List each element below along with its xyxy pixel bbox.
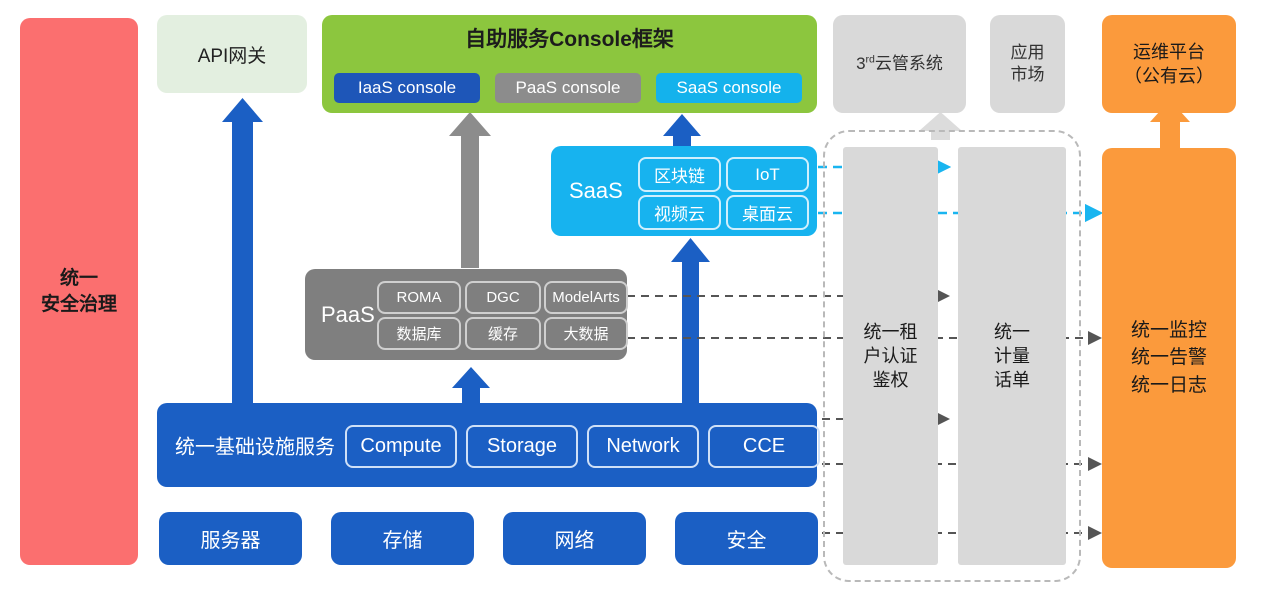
saas-service-desktop-cloud-label: 桌面云 [742, 200, 793, 225]
unified-metering-column[interactable]: 统一 计量 话单 [958, 147, 1066, 565]
unified-metering-label: 统一 计量 话单 [994, 320, 1030, 393]
unified-tenant-auth-label: 统一租 户认证 鉴权 [864, 320, 918, 393]
base-resource-security[interactable]: 安全 [675, 512, 818, 565]
base-resource-network[interactable]: 网络 [503, 512, 646, 565]
ops-platform-top-label: 运维平台 （公有云） [1124, 40, 1214, 89]
paas-service-roma[interactable]: ROMA [377, 281, 461, 314]
unified-tenant-auth-column[interactable]: 统一租 户认证 鉴权 [843, 147, 938, 565]
infra-service-compute[interactable]: Compute [345, 425, 457, 468]
paas-service-database[interactable]: 数据库 [377, 317, 461, 350]
third-party-superscript: rd [866, 53, 875, 65]
paas-service-cache-label: 缓存 [488, 323, 518, 344]
saas-service-iot[interactable]: IoT [726, 157, 809, 192]
infra-service-compute-label: Compute [360, 435, 441, 458]
base-resource-security-label: 安全 [727, 524, 767, 553]
saas-service-desktop-cloud[interactable]: 桌面云 [726, 195, 809, 230]
paas-service-cache[interactable]: 缓存 [465, 317, 541, 350]
base-resource-network-label: 网络 [555, 524, 595, 553]
app-market-box[interactable]: 应用 市场 [990, 15, 1065, 113]
arrow-infra-to-saas [671, 238, 710, 403]
base-resource-server[interactable]: 服务器 [159, 512, 302, 565]
third-party-cloud-mgmt-box[interactable]: 3rd云管系统 [833, 15, 966, 113]
base-resource-storage[interactable]: 存储 [331, 512, 474, 565]
infra-service-network[interactable]: Network [587, 425, 699, 468]
chip-paas-console-label: PaaS console [516, 78, 621, 98]
arrow-infra-to-apigw [222, 98, 263, 403]
ops-platform-top-box[interactable]: 运维平台 （公有云） [1102, 15, 1236, 113]
paas-service-modelarts[interactable]: ModelArts [544, 281, 628, 314]
infra-service-storage-label: Storage [487, 435, 557, 458]
base-resource-server-label: 服务器 [201, 524, 261, 553]
paas-service-dgc-label: DGC [486, 289, 519, 306]
paas-service-database-label: 数据库 [396, 323, 441, 344]
chip-paas-console[interactable]: PaaS console [495, 73, 641, 103]
saas-service-blockchain[interactable]: 区块链 [638, 157, 721, 192]
chip-saas-console[interactable]: SaaS console [656, 73, 802, 103]
chip-iaas-console[interactable]: IaaS console [334, 73, 480, 103]
paas-service-dgc[interactable]: DGC [465, 281, 541, 314]
infra-service-cce-label: CCE [743, 435, 785, 458]
paas-service-bigdata-label: 大数据 [563, 323, 608, 344]
saas-service-blockchain-label: 区块链 [654, 162, 705, 187]
console-framework-box[interactable]: 自助服务Console框架 IaaS console PaaS console … [322, 15, 817, 113]
infra-service-storage[interactable]: Storage [466, 425, 578, 468]
console-framework-title: 自助服务Console框架 [322, 23, 817, 53]
paas-service-roma-label: ROMA [397, 289, 442, 306]
third-party-cloud-mgmt-label: 3rd云管系统 [856, 53, 943, 75]
saas-layer-box[interactable]: SaaS 区块链 IoT 视频云 桌面云 [551, 146, 817, 236]
third-party-prefix: 3 [856, 54, 865, 73]
saas-layer-label: SaaS [569, 178, 623, 204]
chip-iaas-console-label: IaaS console [358, 78, 456, 98]
saas-service-video-cloud-label: 视频云 [654, 200, 705, 225]
infra-service-network-label: Network [606, 435, 679, 458]
api-gateway-box[interactable]: API网关 [157, 15, 307, 93]
arrow-saas-to-console [663, 114, 701, 148]
security-governance-label: 统一 安全治理 [41, 266, 117, 317]
architecture-diagram: 统一 安全治理 API网关 自助服务Console框架 IaaS console… [0, 0, 1265, 605]
ops-monitoring-panel[interactable]: 统一监控 统一告警 统一日志 [1102, 148, 1236, 568]
saas-service-iot-label: IoT [755, 165, 780, 185]
paas-service-modelarts-label: ModelArts [552, 289, 620, 306]
chip-saas-console-label: SaaS console [677, 78, 782, 98]
paas-service-bigdata[interactable]: 大数据 [544, 317, 628, 350]
ops-monitoring-label: 统一监控 统一告警 统一日志 [1131, 317, 1207, 400]
arrow-infra-to-paas [452, 367, 490, 404]
arrow-paas-to-console [449, 112, 491, 268]
unified-infrastructure-box[interactable]: 统一基础设施服务 Compute Storage Network CCE [157, 403, 817, 487]
infra-service-cce[interactable]: CCE [708, 425, 820, 468]
security-governance-panel[interactable]: 统一 安全治理 [20, 18, 138, 565]
api-gateway-label: API网关 [198, 41, 267, 68]
saas-service-video-cloud[interactable]: 视频云 [638, 195, 721, 230]
third-party-suffix: 云管系统 [875, 54, 943, 73]
base-resource-storage-label: 存储 [383, 524, 423, 553]
paas-layer-label: PaaS [321, 302, 375, 328]
unified-infrastructure-label: 统一基础设施服务 [175, 431, 335, 460]
paas-layer-box[interactable]: PaaS ROMA DGC ModelArts 数据库 缓存 大数据 [305, 269, 627, 360]
app-market-label: 应用 市场 [1011, 42, 1045, 86]
